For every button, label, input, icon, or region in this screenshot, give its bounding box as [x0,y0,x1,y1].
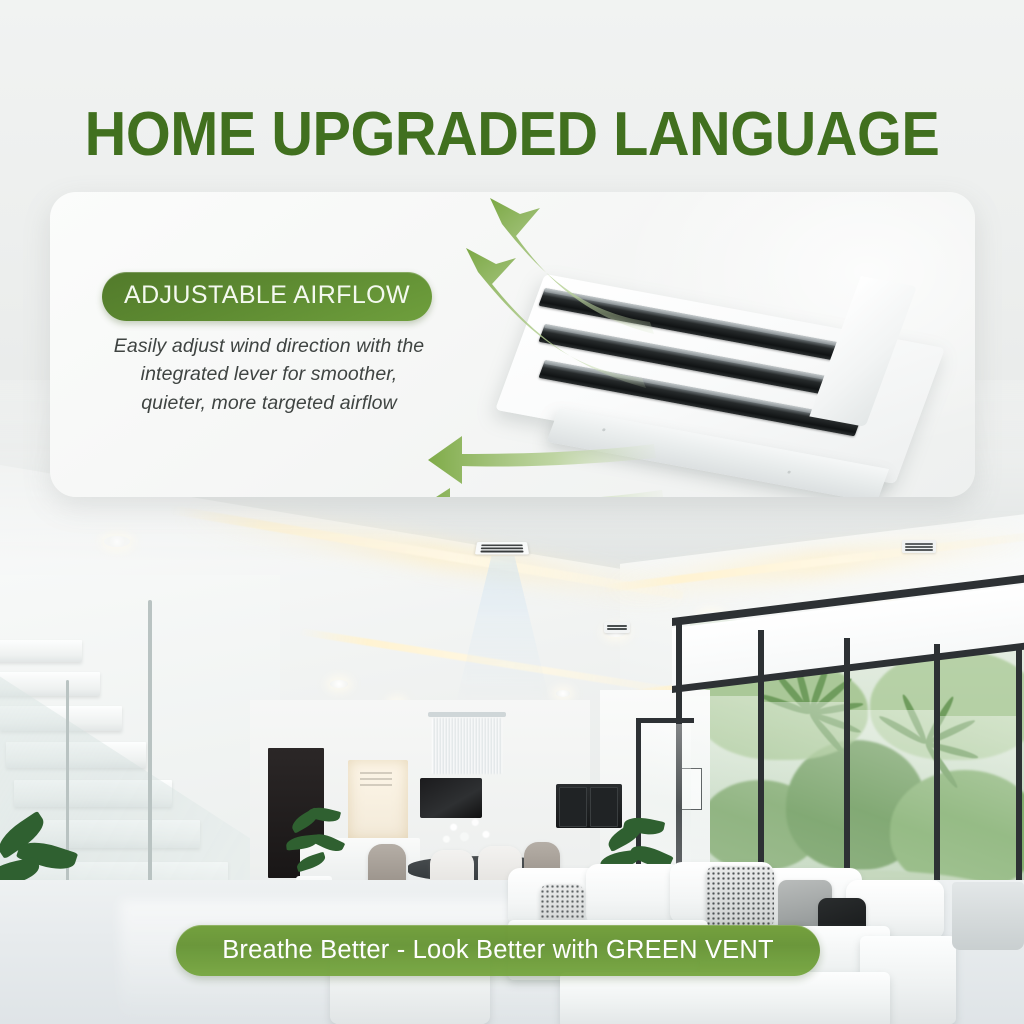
tagline-text: Breathe Better - Look Better with GREEN … [222,936,774,965]
feature-description-line-1: Easily adjust wind direction with the [94,332,444,360]
stair-step [0,640,82,662]
feature-description-line-3: quieter, more targeted airflow [94,389,444,417]
ceiling-vent-small [604,622,630,633]
recessed-downlight [556,690,570,697]
vent-screw [602,428,606,431]
indoor-plant [286,806,348,886]
niche-artwork [360,772,392,788]
marketing-infographic: HOME UPGRADED LANGUAGE [0,0,1024,1024]
recessed-downlight [330,680,348,688]
feature-description-line-2: integrated lever for smoother, [94,360,444,388]
feature-badge-label: ADJUSTABLE AIRFLOW [124,281,410,309]
feature-card: ADJUSTABLE AIRFLOW Easily adjust wind di… [50,192,975,497]
window-frame [636,718,694,723]
feature-badge: ADJUSTABLE AIRFLOW [102,272,432,321]
chandelier-mount [428,712,506,717]
throw-pillow-patterned [706,866,774,928]
airflow-arrow-4 [416,488,664,497]
product-vent-illustration [505,212,975,482]
outdoor-planter [952,882,1024,950]
page-title: HOME UPGRADED LANGUAGE [36,104,988,166]
vent-screw [787,470,791,473]
crystal-chandelier [432,718,502,774]
sofa-back-cushion [586,864,682,926]
feature-description: Easily adjust wind direction with the in… [94,332,444,417]
sofa-front-base [560,972,890,1024]
tagline-banner: Breathe Better - Look Better with GREEN … [176,925,820,976]
